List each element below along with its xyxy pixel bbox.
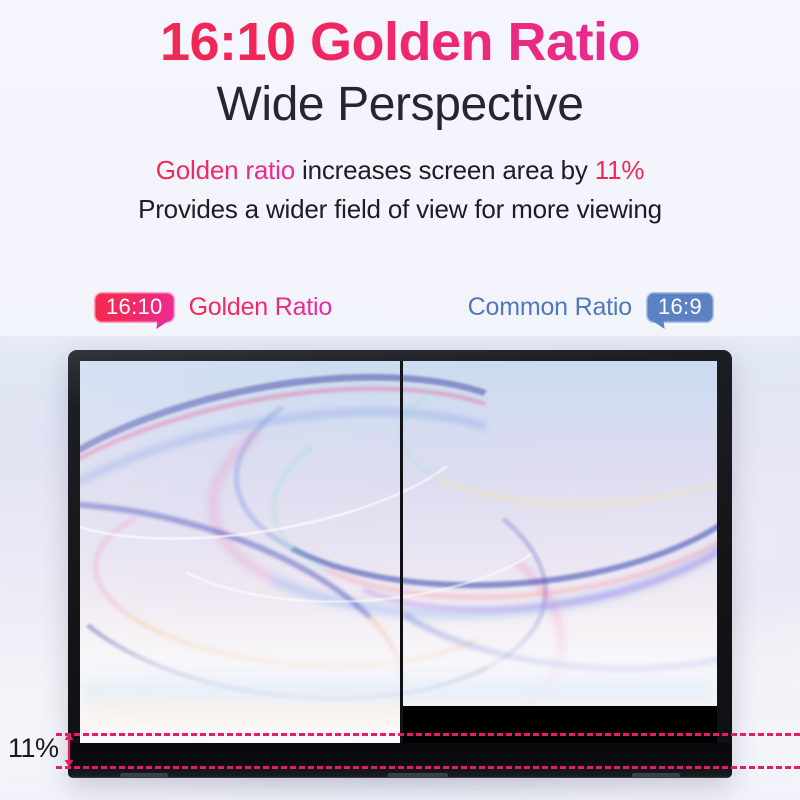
laptop-chin (68, 743, 732, 778)
badge-row: 16:10 Golden Ratio Common Ratio 16:9 (0, 286, 800, 328)
badge-group-common: Common Ratio 16:9 (468, 292, 714, 323)
badge-ratio-16-9: 16:9 (646, 292, 714, 323)
badge-label-common-ratio: Common Ratio (468, 295, 632, 320)
cropped-area-16-9 (400, 706, 717, 743)
description-highlight-golden-ratio: Golden ratio (156, 155, 295, 185)
screen-wallpaper (80, 361, 717, 743)
badge-label-golden-ratio: Golden Ratio (189, 295, 333, 320)
laptop-foot (632, 773, 680, 777)
description-highlight-percent: 11% (595, 155, 645, 185)
page-subtitle: Wide Perspective (0, 72, 800, 132)
laptop-foot (120, 773, 168, 777)
badge-ratio-16-10: 16:10 (94, 292, 175, 323)
description-line-1: Golden ratio increases screen area by 11… (0, 132, 800, 189)
description-line-1-middle: increases screen area by (295, 155, 595, 185)
laptop-foot (388, 773, 448, 777)
poster-root: 16:10 Golden Ratio Wide Perspective Gold… (0, 0, 800, 800)
device-reflection (96, 776, 706, 798)
badge-group-golden: 16:10 Golden Ratio (94, 292, 332, 323)
laptop-screen (80, 361, 717, 743)
device-stage (0, 336, 800, 800)
description-line-2: Provides a wider field of view for more … (0, 189, 800, 228)
text-block: 16:10 Golden Ratio Wide Perspective Gold… (0, 0, 800, 228)
vertical-split-line (400, 361, 403, 743)
page-title: 16:10 Golden Ratio (0, 0, 800, 72)
laptop-device (68, 350, 732, 778)
